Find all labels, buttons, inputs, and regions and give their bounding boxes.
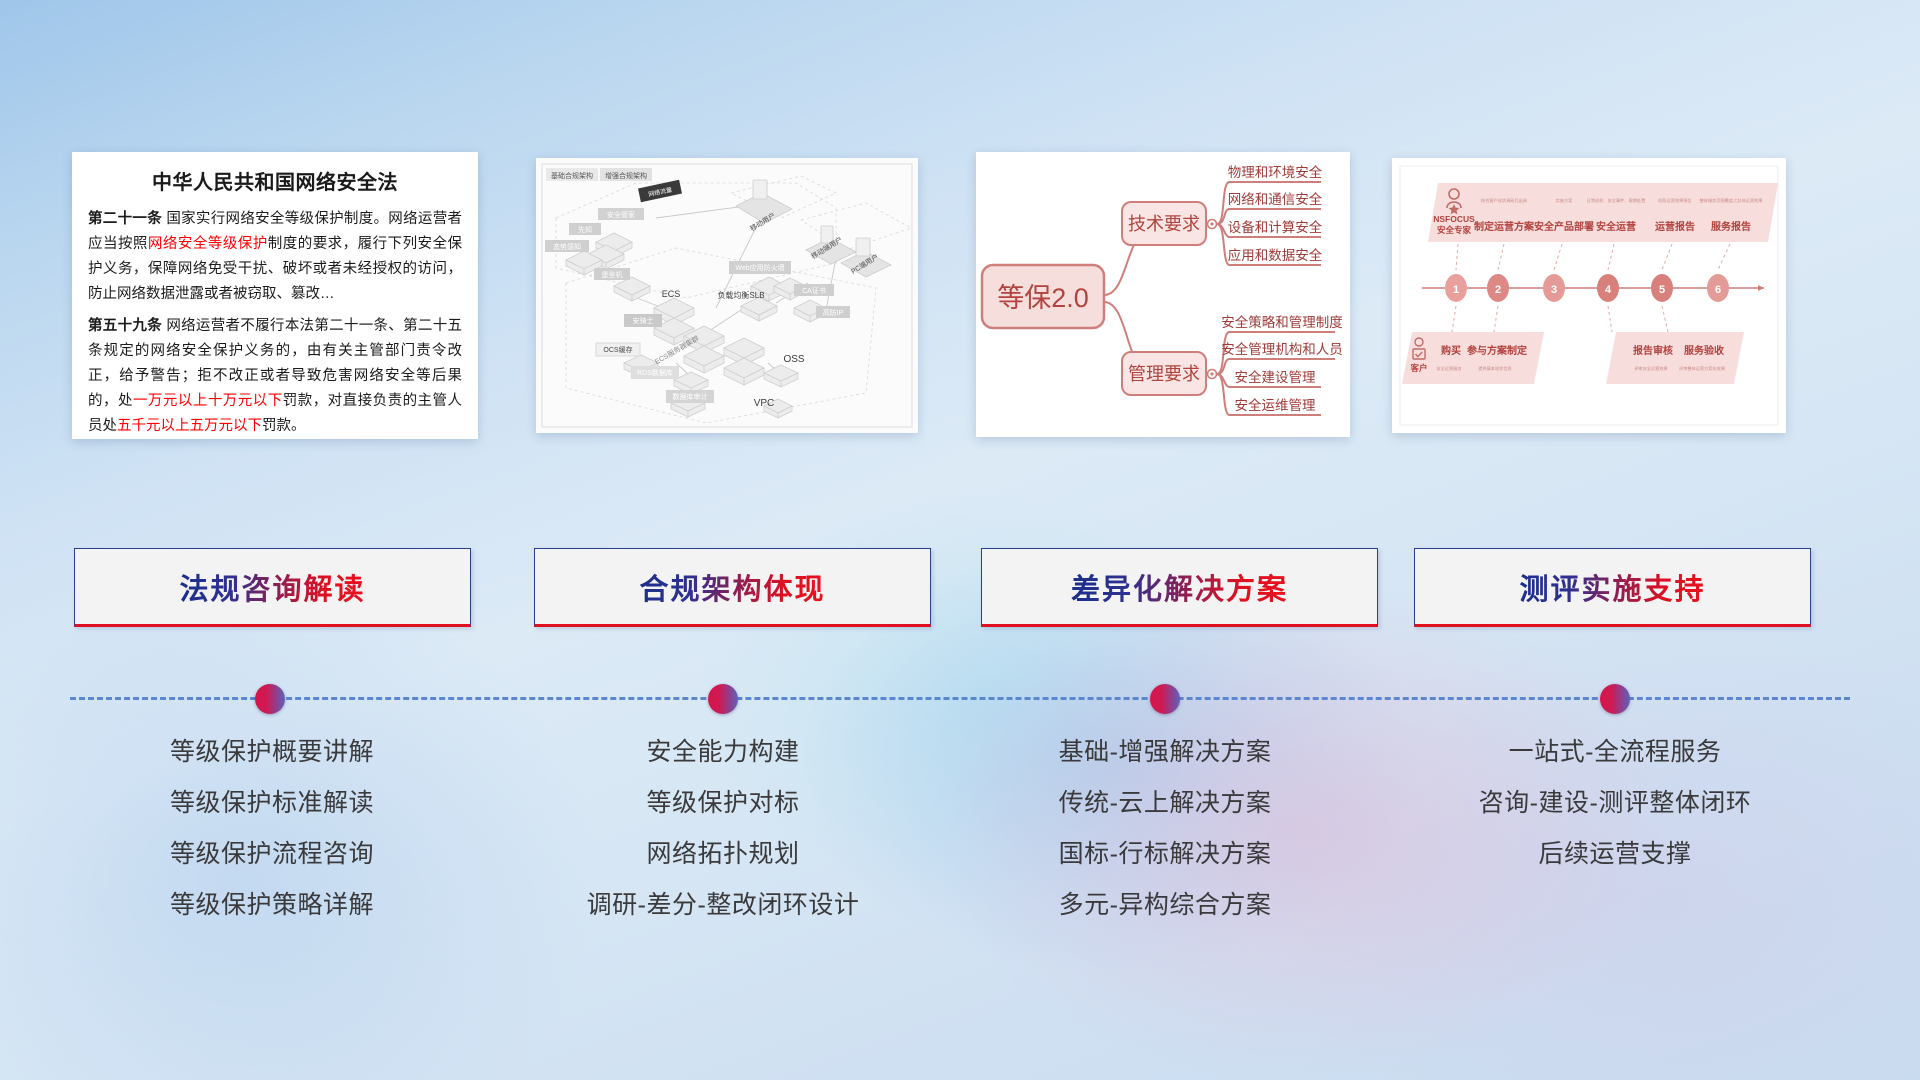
- mindmap-leaf-label: 应用和数据安全: [1228, 247, 1323, 263]
- step-sub: 阶段运营效果报告: [1658, 197, 1692, 204]
- step-sub: 安全运营服务: [1436, 365, 1462, 372]
- arch-node-label: 安全管家: [607, 210, 635, 219]
- arch-node-label: RDS数据库: [637, 368, 673, 377]
- list-item: 等级保护概要讲解: [72, 740, 472, 765]
- process-bottom-band-left: 客户 购买 安全运营服务 参与方案制定 提供基本现状信息: [1402, 332, 1544, 384]
- law-run-highlight: 一万元以上十万元以下: [133, 393, 283, 409]
- item-column-differentiated-solution: 基础-增强解决方案 传统-云上解决方案 国标-行标解决方案 多元-异构综合方案: [965, 740, 1365, 944]
- list-item: 一站式-全流程服务: [1415, 740, 1815, 765]
- card-cloud-architecture[interactable]: 基础合规架构 增强合规架构: [536, 158, 918, 433]
- law-paragraph: 第二十一条 国家实行网络安全等级保护制度。网络运营者应当按照网络安全等级保护制度…: [88, 207, 462, 307]
- step-title: 服务验收: [1684, 344, 1724, 357]
- mindmap-diagram: 等保2.0 技术要求 物理和环境安全 网络和通信安全: [976, 152, 1350, 437]
- slide-canvas: 中华人民共和国网络安全法 第二十一条 国家实行网络安全等级保护制度。网络运营者应…: [0, 0, 1920, 1080]
- law-card-body: 第二十一条 国家实行网络安全等级保护制度。网络运营者应当按照网络安全等级保护制度…: [72, 207, 478, 438]
- arch-node-label: Web应用防火墙: [735, 263, 784, 272]
- section-header-regulation-consulting[interactable]: 法规咨询解读: [74, 548, 471, 627]
- arch-tab-label: 增强合规架构: [605, 171, 647, 180]
- item-column-assessment-support: 一站式-全流程服务 咨询-建设-测评整体闭环 后续运营支撑: [1415, 740, 1815, 893]
- mindmap-root-label: 等保2.0: [997, 283, 1089, 313]
- section-header-label: 测评实施支持: [1519, 566, 1705, 608]
- arch-node-label: CA证书: [802, 286, 826, 295]
- law-run-highlight: 五千元以上五万元以下: [117, 418, 262, 434]
- mindmap-leaf-label: 网络和通信安全: [1228, 191, 1323, 207]
- arch-node-label: 安骑士: [633, 316, 654, 325]
- section-header-label: 法规咨询解读: [179, 566, 365, 608]
- arch-node-label: 数据库审计: [673, 392, 708, 401]
- process-bottom-band-right: 报告审核 评审安全运营效果 服务验收 评审整体运营方案化效果: [1606, 332, 1744, 384]
- marker-label: 1: [1453, 284, 1459, 296]
- step-sub: 日常巡检、安全事件、周期处置: [1587, 197, 1646, 204]
- list-item: 传统-云上解决方案: [965, 791, 1365, 816]
- timeline-dashed-line: [70, 697, 1850, 700]
- step-sub: 评审安全运营效果: [1634, 365, 1668, 372]
- section-header-assessment-support[interactable]: 测评实施支持: [1414, 548, 1811, 627]
- arch-node-label: 先知: [578, 225, 592, 234]
- mindmap-root-node: 等保2.0: [982, 265, 1104, 328]
- law-article-number: 第五十九条: [88, 318, 162, 334]
- mindmap-leaf-label: 设备和计算安全: [1228, 219, 1323, 235]
- list-item: 等级保护策略详解: [72, 893, 472, 918]
- section-header-label: 合规架构体现: [639, 566, 825, 608]
- law-run: 罚款。: [262, 418, 306, 434]
- law-article-number: 第二十一条: [88, 211, 162, 227]
- list-item: 等级保护标准解读: [72, 791, 472, 816]
- list-item: 等级保护对标: [523, 791, 923, 816]
- mindmap-leaf-label: 安全运维管理: [1235, 397, 1316, 413]
- marker-label: 4: [1605, 284, 1612, 296]
- step-title: 安全运营: [1596, 220, 1636, 233]
- section-header-differentiated-solution[interactable]: 差异化解决方案: [981, 548, 1378, 627]
- mindmap-leaf-label: 安全管理机构和人员: [1221, 341, 1343, 357]
- marker-label: 6: [1715, 284, 1721, 296]
- actor-label: 客户: [1409, 363, 1427, 373]
- list-item: 多元-异构综合方案: [965, 893, 1365, 918]
- section-header-label: 差异化解决方案: [1071, 566, 1288, 608]
- item-column-compliance-architecture: 安全能力构建 等级保护对标 网络拓扑规划 调研-差分-整改闭环设计: [523, 740, 923, 944]
- arch-node-label: 高防IP: [823, 308, 844, 317]
- step-title: 购买: [1441, 344, 1461, 357]
- card-cybersecurity-law[interactable]: 中华人民共和国网络安全法 第二十一条 国家实行网络安全等级保护制度。网络运营者应…: [72, 152, 478, 439]
- timeline-dot-3[interactable]: [1150, 684, 1180, 714]
- timeline-dot-4[interactable]: [1600, 684, 1630, 714]
- mindmap-leaf-label: 安全建设管理: [1235, 369, 1316, 385]
- arch-node-label: 堡垒机: [602, 270, 623, 279]
- item-column-regulation-consulting: 等级保护概要讲解 等级保护标准解读 等级保护流程咨询 等级保护策略详解: [72, 740, 472, 944]
- list-item: 基础-增强解决方案: [965, 740, 1365, 765]
- marker-label: 2: [1495, 284, 1501, 296]
- arch-node-label: 态势感知: [553, 242, 581, 251]
- law-card-title: 中华人民共和国网络安全法: [72, 166, 478, 195]
- step-sub: 评审整体运营方案化效果: [1679, 365, 1726, 372]
- step-sub: 提供基本现状信息: [1478, 365, 1512, 372]
- list-item: 网络拓扑规划: [523, 842, 923, 867]
- step-sub: 整体服务范围覆盖之总体运营效果: [1700, 197, 1764, 204]
- thumbnail-card-row: 中华人民共和国网络安全法 第二十一条 国家实行网络安全等级保护制度。网络运营者应…: [0, 0, 1920, 460]
- list-item: 调研-差分-整改闭环设计: [523, 893, 923, 918]
- list-item: 安全能力构建: [523, 740, 923, 765]
- section-header-compliance-architecture[interactable]: 合规架构体现: [534, 548, 931, 627]
- timeline-dot-1[interactable]: [255, 684, 285, 714]
- mindmap-branch-label: 技术要求: [1128, 214, 1200, 234]
- step-sub: 实施方案: [1556, 197, 1574, 204]
- arch-node-label: OSS: [783, 354, 804, 365]
- step-sub: 结合客户现状调研后出具: [1481, 197, 1528, 204]
- arch-node-label: 负载均衡SLB: [717, 290, 764, 300]
- mindmap-branch-label: 管理要求: [1128, 364, 1200, 384]
- timeline-dot-2[interactable]: [708, 684, 738, 714]
- list-item: 等级保护流程咨询: [72, 842, 472, 867]
- actor-label-line1: NSFOCUS: [1433, 214, 1475, 224]
- mindmap-leaf-label: 安全策略和管理制度: [1221, 314, 1343, 330]
- arch-tab-label: 基础合规架构: [551, 171, 593, 180]
- step-title: 报告审核: [1633, 344, 1673, 357]
- arch-node-label: ECS: [662, 289, 681, 299]
- card-service-process[interactable]: NSFOCUS 安全专家 结合客户现状调研后出具 制定运营方案 实施方案 安全产…: [1392, 158, 1786, 433]
- step-title: 制定运营方案: [1474, 220, 1535, 233]
- actor-label-line2: 安全专家: [1437, 225, 1472, 235]
- architecture-diagram: 基础合规架构 增强合规架构: [536, 158, 918, 433]
- step-title: 参与方案制定: [1467, 344, 1527, 357]
- list-item: 咨询-建设-测评整体闭环: [1415, 791, 1815, 816]
- step-title: 运营报告: [1655, 220, 1695, 233]
- mindmap-leaf-label: 物理和环境安全: [1228, 164, 1323, 180]
- list-item: 国标-行标解决方案: [965, 842, 1365, 867]
- law-paragraph: 第五十九条 网络运营者不履行本法第二十一条、第二十五条规定的网络安全保护义务的，…: [88, 314, 462, 439]
- list-item: 后续运营支撑: [1415, 842, 1815, 867]
- marker-label: 3: [1551, 284, 1557, 296]
- card-dengbao-mindmap[interactable]: 等保2.0 技术要求 物理和环境安全 网络和通信安全: [976, 152, 1350, 437]
- arch-node-label: OCS缓存: [603, 345, 632, 354]
- process-top-band: NSFOCUS 安全专家 结合客户现状调研后出具 制定运营方案 实施方案 安全产…: [1428, 183, 1778, 242]
- step-title: 安全产品部署: [1534, 220, 1594, 233]
- marker-label: 5: [1659, 284, 1665, 296]
- step-title: 服务报告: [1711, 220, 1751, 233]
- process-timeline-diagram: NSFOCUS 安全专家 结合客户现状调研后出具 制定运营方案 实施方案 安全产…: [1392, 158, 1786, 433]
- arch-node-label: VPC: [754, 398, 775, 409]
- law-run-highlight: 网络安全等级保护: [148, 236, 268, 252]
